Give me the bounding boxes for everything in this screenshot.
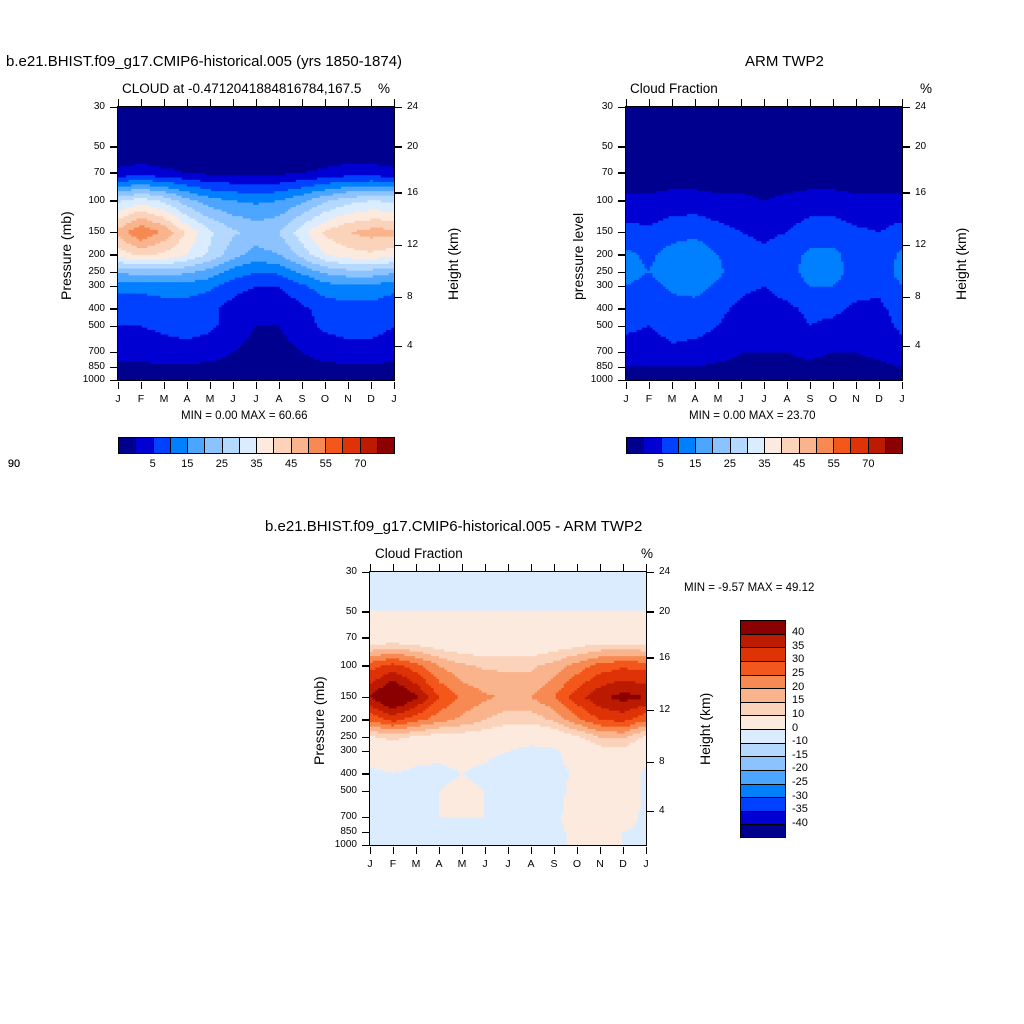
month-tick-label: D bbox=[871, 393, 887, 405]
difference-colorbar[interactable] bbox=[740, 620, 786, 838]
pressure-tick-label: 700 bbox=[88, 346, 105, 357]
month-tick-bottom bbox=[787, 382, 788, 389]
month-tick-label: J bbox=[894, 393, 910, 405]
height-tick-label: 20 bbox=[915, 141, 926, 152]
panel-model-subtitle-right: % bbox=[378, 81, 390, 96]
month-tick-top bbox=[600, 564, 601, 571]
pressure-tick-label: 500 bbox=[88, 320, 105, 331]
month-tick-bottom bbox=[577, 847, 578, 854]
colorbar-cell[interactable] bbox=[740, 756, 786, 770]
month-tick-bottom bbox=[623, 847, 624, 854]
height-tick-label: 24 bbox=[659, 566, 670, 577]
colorbar-cell[interactable] bbox=[377, 437, 395, 454]
obs-contour-plot[interactable] bbox=[625, 106, 903, 381]
height-tick bbox=[903, 107, 910, 108]
colorbar-cell[interactable] bbox=[308, 437, 325, 454]
month-tick-top bbox=[787, 99, 788, 106]
colorbar-cell[interactable] bbox=[239, 437, 256, 454]
height-tick bbox=[647, 762, 654, 763]
month-tick-top bbox=[210, 99, 211, 106]
colorbar-cell[interactable] bbox=[833, 437, 850, 454]
panel-difference-subtitle-right: % bbox=[641, 546, 653, 561]
colorbar-tick-label: 0 bbox=[792, 722, 798, 734]
month-tick-bottom bbox=[741, 382, 742, 389]
month-tick-top bbox=[370, 564, 371, 571]
pressure-tick bbox=[618, 232, 625, 233]
month-tick-label: N bbox=[340, 393, 356, 405]
month-tick-label: M bbox=[202, 393, 218, 405]
colorbar-cell[interactable] bbox=[740, 688, 786, 702]
month-tick-bottom bbox=[718, 382, 719, 389]
month-tick-bottom bbox=[118, 382, 119, 389]
colorbar-tick-label: 70 bbox=[854, 458, 882, 470]
colorbar-cell[interactable] bbox=[740, 811, 786, 825]
height-tick-label: 4 bbox=[915, 340, 921, 351]
height-tick bbox=[647, 710, 654, 711]
colorbar-cell[interactable] bbox=[740, 661, 786, 675]
colorbar-tick-label: 90 bbox=[0, 458, 28, 470]
month-tick-bottom bbox=[325, 382, 326, 389]
colorbar-tick-label: -10 bbox=[792, 735, 808, 747]
pressure-tick-label: 300 bbox=[340, 745, 357, 756]
colorbar-cell[interactable] bbox=[781, 437, 798, 454]
pressure-tick bbox=[110, 146, 117, 147]
pressure-tick bbox=[618, 326, 625, 327]
pressure-tick-label: 850 bbox=[340, 826, 357, 837]
pressure-tick-label: 1000 bbox=[83, 374, 105, 385]
colorbar-tick-label: 40 bbox=[792, 626, 804, 638]
pressure-tick bbox=[618, 286, 625, 287]
pressure-tick-label: 50 bbox=[94, 141, 105, 152]
colorbar-cell[interactable] bbox=[256, 437, 273, 454]
pressure-tick-label: 150 bbox=[88, 226, 105, 237]
month-tick-bottom bbox=[531, 847, 532, 854]
month-tick-top bbox=[741, 99, 742, 106]
month-tick-label: F bbox=[385, 858, 401, 870]
height-tick-label: 8 bbox=[659, 756, 665, 767]
pressure-tick-label: 1000 bbox=[591, 374, 613, 385]
colorbar-cell[interactable] bbox=[325, 437, 342, 454]
month-tick-top bbox=[439, 564, 440, 571]
colorbar-cell[interactable] bbox=[747, 437, 764, 454]
month-tick-bottom bbox=[879, 382, 880, 389]
month-tick-bottom bbox=[394, 382, 395, 389]
pressure-tick bbox=[110, 172, 117, 173]
month-tick-bottom bbox=[233, 382, 234, 389]
pressure-tick bbox=[362, 751, 369, 752]
model-ylabel-right: Height (km) bbox=[445, 228, 461, 300]
colorbar-cell[interactable] bbox=[740, 770, 786, 784]
month-tick-label: N bbox=[592, 858, 608, 870]
height-tick bbox=[647, 611, 654, 612]
pressure-tick-label: 100 bbox=[88, 195, 105, 206]
pressure-tick-label: 30 bbox=[346, 566, 357, 577]
month-tick-bottom bbox=[856, 382, 857, 389]
month-tick-top bbox=[810, 99, 811, 106]
month-tick-label: M bbox=[664, 393, 680, 405]
pressure-tick bbox=[618, 380, 625, 381]
difference-contour-plot[interactable] bbox=[369, 571, 647, 846]
pressure-tick bbox=[618, 367, 625, 368]
month-tick-label: J bbox=[618, 393, 634, 405]
pressure-tick bbox=[110, 380, 117, 381]
pressure-tick-label: 200 bbox=[88, 249, 105, 260]
height-tick bbox=[647, 657, 654, 658]
month-tick-label: A bbox=[779, 393, 795, 405]
month-tick-top bbox=[416, 564, 417, 571]
month-tick-bottom bbox=[348, 382, 349, 389]
colorbar-cell[interactable] bbox=[740, 702, 786, 716]
panel-obs-title: ARM TWP2 bbox=[745, 53, 824, 70]
colorbar-tick-label: 30 bbox=[792, 653, 804, 665]
height-tick-label: 4 bbox=[659, 805, 665, 816]
difference-minmax: MIN = -9.57 MAX = 49.12 bbox=[684, 582, 814, 594]
month-tick-top bbox=[118, 99, 119, 106]
colorbar-cell[interactable] bbox=[360, 437, 377, 454]
pressure-tick bbox=[618, 200, 625, 201]
month-tick-top bbox=[856, 99, 857, 106]
pressure-tick bbox=[110, 107, 117, 108]
colorbar-cell[interactable] bbox=[740, 784, 786, 798]
colorbar-cell[interactable] bbox=[153, 437, 170, 454]
colorbar-tick-label: 15 bbox=[792, 694, 804, 706]
pressure-tick-label: 200 bbox=[340, 714, 357, 725]
colorbar-tick-label: 25 bbox=[716, 458, 744, 470]
colorbar-cell[interactable] bbox=[799, 437, 816, 454]
pressure-tick bbox=[362, 817, 369, 818]
pressure-tick-label: 300 bbox=[596, 280, 613, 291]
month-tick-top bbox=[554, 564, 555, 571]
pressure-tick bbox=[362, 719, 369, 720]
month-tick-top bbox=[164, 99, 165, 106]
colorbar-cell[interactable] bbox=[342, 437, 359, 454]
colorbar-tick-label: 25 bbox=[792, 667, 804, 679]
colorbar-tick-label: 15 bbox=[173, 458, 201, 470]
month-tick-label: F bbox=[133, 393, 149, 405]
pressure-tick bbox=[110, 326, 117, 327]
pressure-tick bbox=[618, 146, 625, 147]
pressure-tick bbox=[110, 286, 117, 287]
colorbar-cell[interactable] bbox=[678, 437, 695, 454]
month-tick-label: M bbox=[156, 393, 172, 405]
month-tick-top bbox=[718, 99, 719, 106]
height-tick-label: 12 bbox=[407, 239, 418, 250]
month-tick-label: J bbox=[756, 393, 772, 405]
pressure-tick bbox=[618, 172, 625, 173]
month-tick-top bbox=[394, 99, 395, 106]
pressure-tick-label: 700 bbox=[340, 811, 357, 822]
height-tick-label: 20 bbox=[659, 606, 670, 617]
month-tick-top bbox=[646, 564, 647, 571]
colorbar-cell[interactable] bbox=[764, 437, 781, 454]
height-tick bbox=[903, 146, 910, 147]
month-tick-label: D bbox=[363, 393, 379, 405]
colorbar-cell[interactable] bbox=[291, 437, 308, 454]
month-tick-top bbox=[879, 99, 880, 106]
colorbar-cell[interactable] bbox=[730, 437, 747, 454]
pressure-tick bbox=[110, 200, 117, 201]
month-tick-top bbox=[485, 564, 486, 571]
month-tick-label: M bbox=[710, 393, 726, 405]
colorbar-tick-label: 55 bbox=[312, 458, 340, 470]
pressure-tick bbox=[362, 611, 369, 612]
colorbar-cell[interactable] bbox=[740, 797, 786, 811]
panel-difference-subtitle-left: Cloud Fraction bbox=[375, 546, 463, 561]
pressure-tick-label: 150 bbox=[596, 226, 613, 237]
colorbar-tick-label: -40 bbox=[792, 817, 808, 829]
colorbar-cell[interactable] bbox=[740, 620, 786, 634]
month-tick-top bbox=[764, 99, 765, 106]
height-tick bbox=[903, 192, 910, 193]
pressure-tick bbox=[362, 832, 369, 833]
colorbar-cell[interactable] bbox=[170, 437, 187, 454]
colorbar-cell[interactable] bbox=[740, 715, 786, 729]
colorbar-cell[interactable] bbox=[643, 437, 660, 454]
month-tick-bottom bbox=[810, 382, 811, 389]
month-tick-label: D bbox=[615, 858, 631, 870]
pressure-tick-label: 250 bbox=[340, 731, 357, 742]
pressure-tick bbox=[362, 665, 369, 666]
height-tick bbox=[903, 297, 910, 298]
pressure-tick-label: 150 bbox=[340, 691, 357, 702]
height-tick bbox=[395, 297, 402, 298]
month-tick-label: M bbox=[454, 858, 470, 870]
month-tick-label: O bbox=[317, 393, 333, 405]
month-tick-label: O bbox=[825, 393, 841, 405]
month-tick-label: J bbox=[477, 858, 493, 870]
month-tick-top bbox=[371, 99, 372, 106]
month-tick-label: J bbox=[638, 858, 654, 870]
month-tick-bottom bbox=[833, 382, 834, 389]
month-tick-top bbox=[302, 99, 303, 106]
colorbar-tick-label: 20 bbox=[792, 681, 804, 693]
month-tick-label: J bbox=[225, 393, 241, 405]
month-tick-label: J bbox=[110, 393, 126, 405]
pressure-tick bbox=[110, 352, 117, 353]
obs-ylabel-right: Height (km) bbox=[953, 228, 969, 300]
month-tick-bottom bbox=[626, 382, 627, 389]
month-tick-top bbox=[279, 99, 280, 106]
month-tick-label: J bbox=[362, 858, 378, 870]
colorbar-cell[interactable] bbox=[740, 647, 786, 661]
month-tick-label: A bbox=[431, 858, 447, 870]
colorbar-tick-label: 35 bbox=[792, 640, 804, 652]
pressure-tick-label: 100 bbox=[340, 660, 357, 671]
height-tick bbox=[395, 146, 402, 147]
month-tick-top bbox=[508, 564, 509, 571]
pressure-tick bbox=[618, 254, 625, 255]
month-tick-bottom bbox=[187, 382, 188, 389]
month-tick-label: J bbox=[733, 393, 749, 405]
height-tick-label: 4 bbox=[407, 340, 413, 351]
colorbar-tick-label: 70 bbox=[346, 458, 374, 470]
colorbar-cell[interactable] bbox=[816, 437, 833, 454]
month-tick-bottom bbox=[672, 382, 673, 389]
colorbar-cell[interactable] bbox=[885, 437, 903, 454]
month-tick-bottom bbox=[554, 847, 555, 854]
pressure-tick-label: 850 bbox=[596, 361, 613, 372]
pressure-tick-label: 250 bbox=[596, 266, 613, 277]
pressure-tick bbox=[362, 773, 369, 774]
month-tick-top bbox=[393, 564, 394, 571]
panel-model-title: b.e21.BHIST.f09_g17.CMIP6-historical.005… bbox=[6, 53, 402, 70]
height-tick-label: 24 bbox=[407, 101, 418, 112]
height-tick bbox=[903, 346, 910, 347]
month-tick-top bbox=[902, 99, 903, 106]
obs-colorbar[interactable] bbox=[626, 437, 903, 454]
colorbar-cell[interactable] bbox=[868, 437, 885, 454]
month-tick-top bbox=[577, 564, 578, 571]
colorbar-cell[interactable] bbox=[850, 437, 867, 454]
difference-ylabel-right: Height (km) bbox=[697, 693, 713, 765]
month-tick-bottom bbox=[439, 847, 440, 854]
pressure-tick-label: 500 bbox=[340, 785, 357, 796]
height-tick-label: 16 bbox=[659, 652, 670, 663]
pressure-tick-label: 400 bbox=[340, 768, 357, 779]
pressure-tick bbox=[362, 737, 369, 738]
colorbar-cell[interactable] bbox=[695, 437, 712, 454]
colorbar-cell[interactable] bbox=[740, 824, 786, 838]
month-tick-bottom bbox=[210, 382, 211, 389]
colorbar-cell[interactable] bbox=[661, 437, 678, 454]
colorbar-cell[interactable] bbox=[135, 437, 152, 454]
month-tick-top bbox=[833, 99, 834, 106]
model-contour-plot[interactable] bbox=[117, 106, 395, 381]
colorbar-cell[interactable] bbox=[273, 437, 290, 454]
pressure-tick-label: 250 bbox=[88, 266, 105, 277]
month-tick-bottom bbox=[371, 382, 372, 389]
colorbar-tick-label: -35 bbox=[792, 803, 808, 815]
pressure-tick bbox=[110, 272, 117, 273]
pressure-tick-label: 700 bbox=[596, 346, 613, 357]
colorbar-cell[interactable] bbox=[118, 437, 135, 454]
colorbar-cell[interactable] bbox=[187, 437, 204, 454]
panel-obs-subtitle-left: Cloud Fraction bbox=[630, 81, 718, 96]
height-tick bbox=[395, 192, 402, 193]
month-tick-top bbox=[649, 99, 650, 106]
colorbar-cell[interactable] bbox=[740, 743, 786, 757]
height-tick-label: 8 bbox=[407, 291, 413, 302]
colorbar-cell[interactable] bbox=[740, 675, 786, 689]
month-tick-bottom bbox=[256, 382, 257, 389]
obs-ylabel-left: pressure level bbox=[570, 213, 586, 300]
month-tick-label: N bbox=[848, 393, 864, 405]
model-minmax: MIN = 0.00 MAX = 60.66 bbox=[181, 410, 308, 422]
pressure-tick-label: 400 bbox=[596, 303, 613, 314]
month-tick-top bbox=[623, 564, 624, 571]
pressure-tick bbox=[110, 232, 117, 233]
month-tick-bottom bbox=[279, 382, 280, 389]
colorbar-tick-label: -30 bbox=[792, 790, 808, 802]
pressure-tick-label: 300 bbox=[88, 280, 105, 291]
colorbar-cell[interactable] bbox=[712, 437, 729, 454]
pressure-tick bbox=[110, 308, 117, 309]
panel-difference-title: b.e21.BHIST.f09_g17.CMIP6-historical.005… bbox=[265, 518, 642, 535]
pressure-tick bbox=[618, 107, 625, 108]
colorbar-cell[interactable] bbox=[740, 634, 786, 648]
pressure-tick-label: 500 bbox=[596, 320, 613, 331]
month-tick-bottom bbox=[695, 382, 696, 389]
height-tick-label: 8 bbox=[915, 291, 921, 302]
model-colorbar[interactable] bbox=[118, 437, 395, 454]
month-tick-label: A bbox=[271, 393, 287, 405]
height-tick bbox=[395, 346, 402, 347]
pressure-tick bbox=[618, 272, 625, 273]
month-tick-label: J bbox=[500, 858, 516, 870]
pressure-tick-label: 50 bbox=[602, 141, 613, 152]
height-tick-label: 12 bbox=[915, 239, 926, 250]
month-tick-bottom bbox=[462, 847, 463, 854]
height-tick bbox=[903, 245, 910, 246]
colorbar-tick-label: 35 bbox=[751, 458, 779, 470]
month-tick-top bbox=[141, 99, 142, 106]
pressure-tick bbox=[362, 697, 369, 698]
colorbar-cell[interactable] bbox=[626, 437, 643, 454]
height-tick-label: 12 bbox=[659, 704, 670, 715]
pressure-tick bbox=[618, 308, 625, 309]
month-tick-label: F bbox=[641, 393, 657, 405]
month-tick-bottom bbox=[164, 382, 165, 389]
pressure-tick bbox=[110, 367, 117, 368]
height-tick-label: 20 bbox=[407, 141, 418, 152]
colorbar-tick-label: 10 bbox=[792, 708, 804, 720]
month-tick-top bbox=[187, 99, 188, 106]
pressure-tick bbox=[362, 791, 369, 792]
pressure-tick-label: 200 bbox=[596, 249, 613, 260]
month-tick-bottom bbox=[485, 847, 486, 854]
pressure-tick bbox=[362, 572, 369, 573]
month-tick-label: A bbox=[523, 858, 539, 870]
month-tick-top bbox=[256, 99, 257, 106]
month-tick-bottom bbox=[141, 382, 142, 389]
month-tick-label: J bbox=[386, 393, 402, 405]
pressure-tick-label: 100 bbox=[596, 195, 613, 206]
month-tick-bottom bbox=[508, 847, 509, 854]
colorbar-cell[interactable] bbox=[204, 437, 221, 454]
height-tick-label: 16 bbox=[407, 187, 418, 198]
height-tick bbox=[395, 107, 402, 108]
month-tick-bottom bbox=[416, 847, 417, 854]
month-tick-top bbox=[325, 99, 326, 106]
height-tick-label: 24 bbox=[915, 101, 926, 112]
pressure-tick-label: 30 bbox=[602, 101, 613, 112]
month-tick-top bbox=[695, 99, 696, 106]
colorbar-cell[interactable] bbox=[740, 729, 786, 743]
month-tick-bottom bbox=[902, 382, 903, 389]
height-tick bbox=[395, 245, 402, 246]
pressure-tick-label: 850 bbox=[88, 361, 105, 372]
month-tick-label: S bbox=[294, 393, 310, 405]
month-tick-bottom bbox=[646, 847, 647, 854]
month-tick-bottom bbox=[649, 382, 650, 389]
pressure-tick bbox=[362, 637, 369, 638]
height-tick bbox=[647, 811, 654, 812]
month-tick-top bbox=[462, 564, 463, 571]
colorbar-cell[interactable] bbox=[222, 437, 239, 454]
colorbar-tick-label: 5 bbox=[139, 458, 167, 470]
pressure-tick bbox=[110, 254, 117, 255]
month-tick-bottom bbox=[302, 382, 303, 389]
colorbar-tick-label: 55 bbox=[820, 458, 848, 470]
height-tick bbox=[647, 572, 654, 573]
month-tick-top bbox=[626, 99, 627, 106]
colorbar-tick-label: -15 bbox=[792, 749, 808, 761]
colorbar-tick-label: 15 bbox=[681, 458, 709, 470]
pressure-tick-label: 30 bbox=[94, 101, 105, 112]
colorbar-tick-label: 25 bbox=[208, 458, 236, 470]
month-tick-top bbox=[233, 99, 234, 106]
pressure-tick-label: 70 bbox=[94, 167, 105, 178]
